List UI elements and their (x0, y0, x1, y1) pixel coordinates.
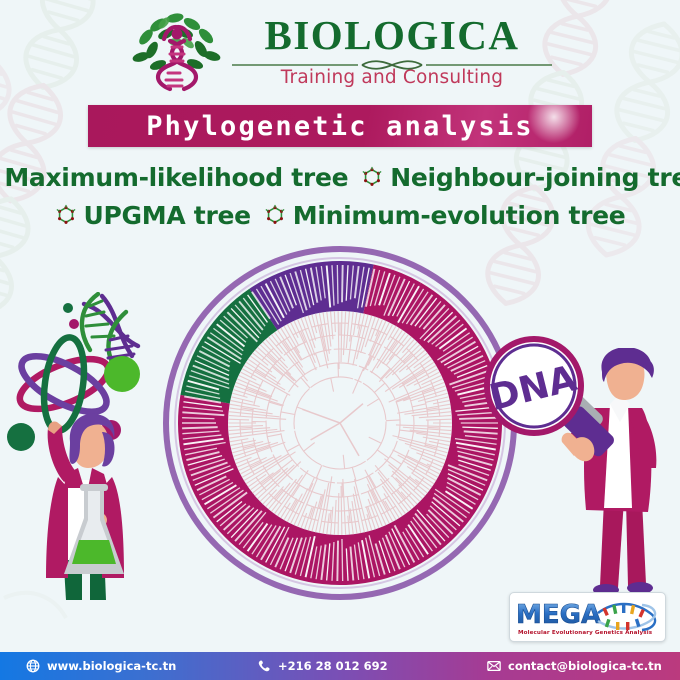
footer-phone[interactable]: +216 28 012 692 (257, 659, 388, 673)
mega-title: MEGA (516, 600, 601, 630)
brand-divider (232, 57, 552, 67)
poster-canvas: BIOLOGICA Training and Consulting Phylog… (0, 0, 680, 680)
phone-icon (257, 659, 271, 673)
mega-subtitle: Molecular Evolutionary Genetics Analysis (518, 630, 653, 636)
page-title: Phylogenetic analysis (146, 111, 534, 142)
circular-phylogenetic-tree (160, 243, 520, 603)
envelope-icon (487, 659, 501, 673)
dot-decor (69, 319, 79, 329)
method-item-maximum-likelihood-tree[interactable]: Maximum-likelihood tree (0, 163, 348, 192)
tree-branches (228, 311, 452, 535)
tree-figure (160, 243, 520, 603)
molecule-hexagon-icon (264, 204, 286, 226)
molecule-hexagon-icon (361, 166, 383, 188)
dot-decor (63, 303, 73, 313)
method-label: Minimum-evolution tree (293, 201, 626, 230)
mega-logo: MEGA Molecular Evolutionary Genetics Ana… (510, 593, 665, 641)
methods-list: Maximum-likelihood tree Nei (0, 158, 680, 234)
brand-tagline: Training and Consulting (281, 68, 504, 88)
method-label: UPGMA tree (84, 201, 251, 230)
method-item-upgma-tree[interactable]: UPGMA tree (55, 201, 251, 230)
dot-decor (104, 356, 140, 392)
page-title-banner: Phylogenetic analysis (88, 105, 592, 147)
methods-row-2: UPGMA tree Minimum-evolutio (0, 196, 680, 234)
footer-website[interactable]: www.biologica-tc.tn (26, 659, 176, 673)
method-label: Maximum-likelihood tree (4, 163, 348, 192)
globe-icon (26, 659, 40, 673)
mega-logo-card[interactable]: MEGA Molecular Evolutionary Genetics Ana… (509, 592, 666, 642)
contact-footer: www.biologica-tc.tn +216 28 012 692 cont… (0, 652, 680, 680)
dna-magnifier-badge[interactable]: DNA (478, 334, 590, 446)
footer-website-text: www.biologica-tc.tn (47, 659, 176, 673)
woman-figure (46, 414, 124, 600)
method-label: Neighbour-joining tree (390, 163, 680, 192)
scientist-woman-illustration (6, 292, 186, 602)
molecule-hexagon-icon (55, 204, 77, 226)
footer-phone-text: +216 28 012 692 (278, 659, 388, 673)
footer-email-text: contact@biologica-tc.tn (508, 659, 662, 673)
method-item-neighbour-joining-tree[interactable]: Neighbour-joining tree (361, 163, 680, 192)
dna-tree-logo-icon (128, 9, 226, 95)
brand-name: BIOLOGICA (265, 15, 520, 56)
methods-row-1: Maximum-likelihood tree Nei (0, 158, 680, 196)
dna-helix-icon (598, 604, 655, 630)
dot-decor (7, 423, 35, 451)
footer-email[interactable]: contact@biologica-tc.tn (487, 659, 662, 673)
brand-logo: BIOLOGICA Training and Consulting (0, 8, 680, 96)
method-item-minimum-evolution-tree[interactable]: Minimum-evolution tree (264, 201, 626, 230)
